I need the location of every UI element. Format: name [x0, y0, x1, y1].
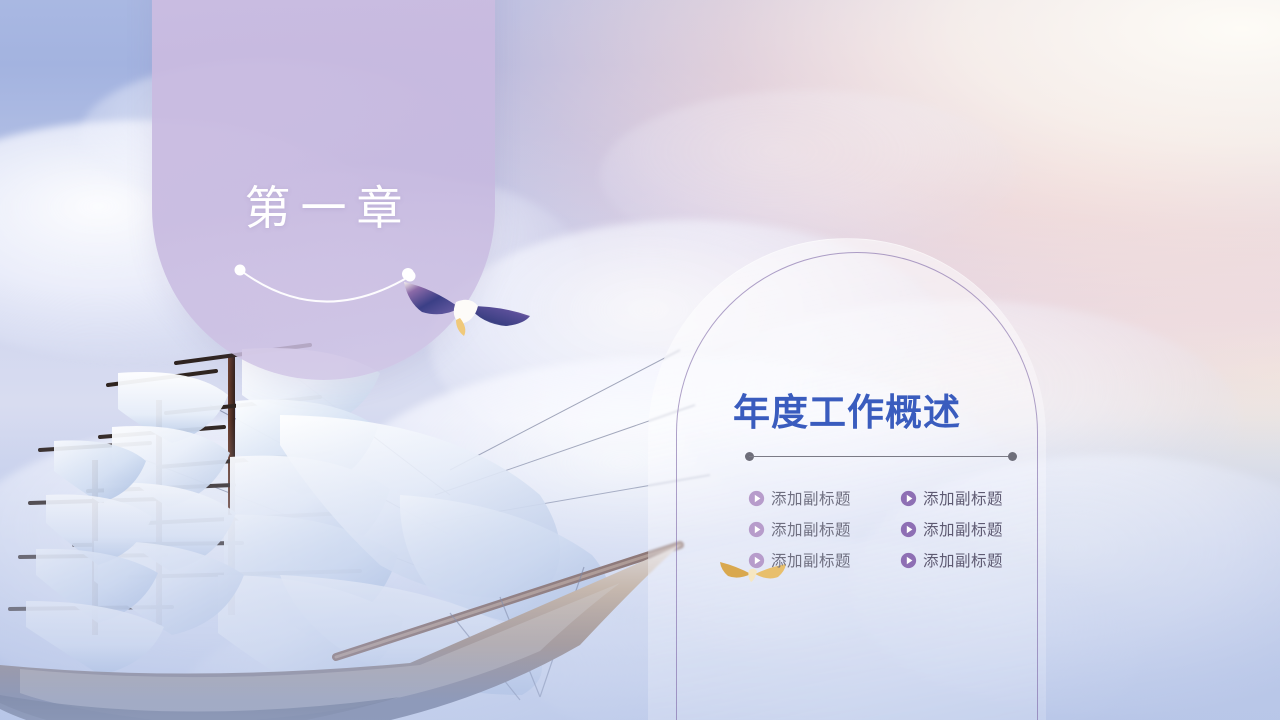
list-item[interactable]: 添加副标题 [900, 549, 1038, 571]
list-item[interactable]: 添加副标题 [900, 487, 1038, 509]
list-item[interactable]: 添加副标题 [748, 487, 900, 509]
bottom-haze [0, 420, 1280, 720]
play-circle-icon [748, 490, 765, 507]
list-item-label: 添加副标题 [771, 549, 851, 571]
play-circle-icon [748, 552, 765, 569]
page-title: 年度工作概述 [648, 382, 1046, 436]
presentation-slide: 第一章 [0, 0, 1280, 720]
list-item-label: 添加副标题 [771, 518, 851, 540]
list-item-label: 添加副标题 [771, 487, 851, 509]
play-circle-icon [900, 490, 917, 507]
dotted-line-divider-icon [745, 452, 1017, 461]
arch-outline [676, 252, 1038, 720]
play-circle-icon [900, 552, 917, 569]
list-item[interactable]: 添加副标题 [748, 549, 900, 571]
play-circle-icon [748, 521, 765, 538]
list-item-label: 添加副标题 [923, 518, 1003, 540]
list-item-label: 添加副标题 [923, 487, 1003, 509]
list-item[interactable]: 添加副标题 [900, 518, 1038, 540]
play-circle-icon [900, 521, 917, 538]
list-item[interactable]: 添加副标题 [748, 518, 900, 540]
chapter-title: 第一章 [152, 172, 495, 238]
seagull-icon [398, 266, 536, 344]
subtitle-list: 添加副标题 添加副标题 添加副标题 添加副标题 添加副标题 添加副标题 [748, 487, 1038, 571]
list-item-label: 添加副标题 [923, 549, 1003, 571]
